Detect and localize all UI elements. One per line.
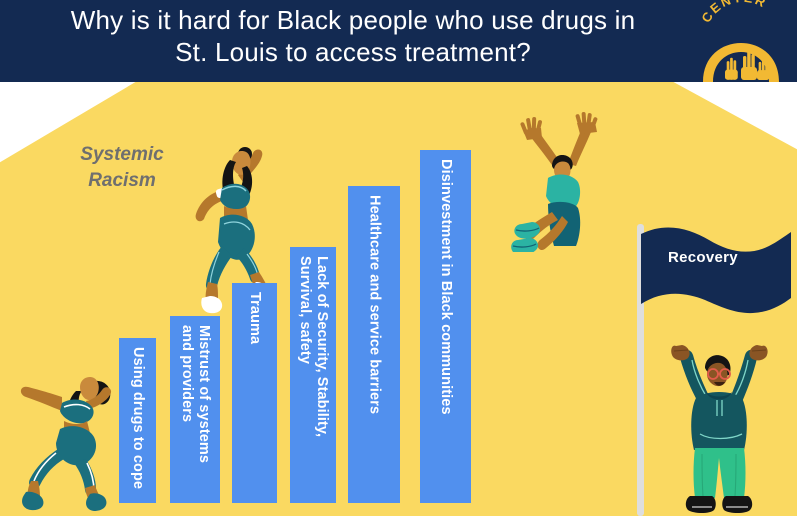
bar-trauma: Trauma: [232, 283, 277, 503]
bar-label: Using drugs to cope: [129, 338, 146, 489]
bar-healthcare-barriers: Healthcare and service barriers: [348, 186, 400, 503]
recovery-flag-label: Recovery: [668, 249, 738, 266]
jumping-person-figure: [510, 112, 610, 252]
infographic-canvas: Why is it hard for Black people who use …: [0, 0, 797, 516]
running-woman-figure: [14, 363, 124, 511]
bar-disinvestment-black-communities: Disinvestment in Black communities: [420, 150, 471, 503]
celebrating-man-figure: [662, 330, 780, 516]
arch-logo-icon: CENTER: [689, 0, 793, 82]
header-banner: Why is it hard for Black people who use …: [0, 0, 797, 82]
recovery-flag: [641, 226, 791, 338]
bar-label: Healthcare and service barriers: [366, 186, 383, 414]
page-title: Why is it hard for Black people who use …: [8, 4, 698, 68]
svg-text:CENTER: CENTER: [698, 0, 769, 25]
bar-using-drugs-to-cope: Using drugs to cope: [119, 338, 156, 503]
bar-label: Mistrust of systems and providers: [178, 316, 212, 463]
systemic-racism-annotation: Systemic Racism: [52, 142, 192, 194]
bar-label: Trauma: [246, 283, 263, 344]
bar-label: Disinvestment in Black communities: [437, 150, 454, 415]
bar-label: Lack of Security, Stability, Survival, s…: [296, 247, 330, 437]
bar-mistrust-of-systems: Mistrust of systems and providers: [170, 316, 220, 503]
center-arch-logo: CENTER: [689, 0, 793, 82]
bar-lack-of-security: Lack of Security, Stability, Survival, s…: [290, 247, 336, 503]
